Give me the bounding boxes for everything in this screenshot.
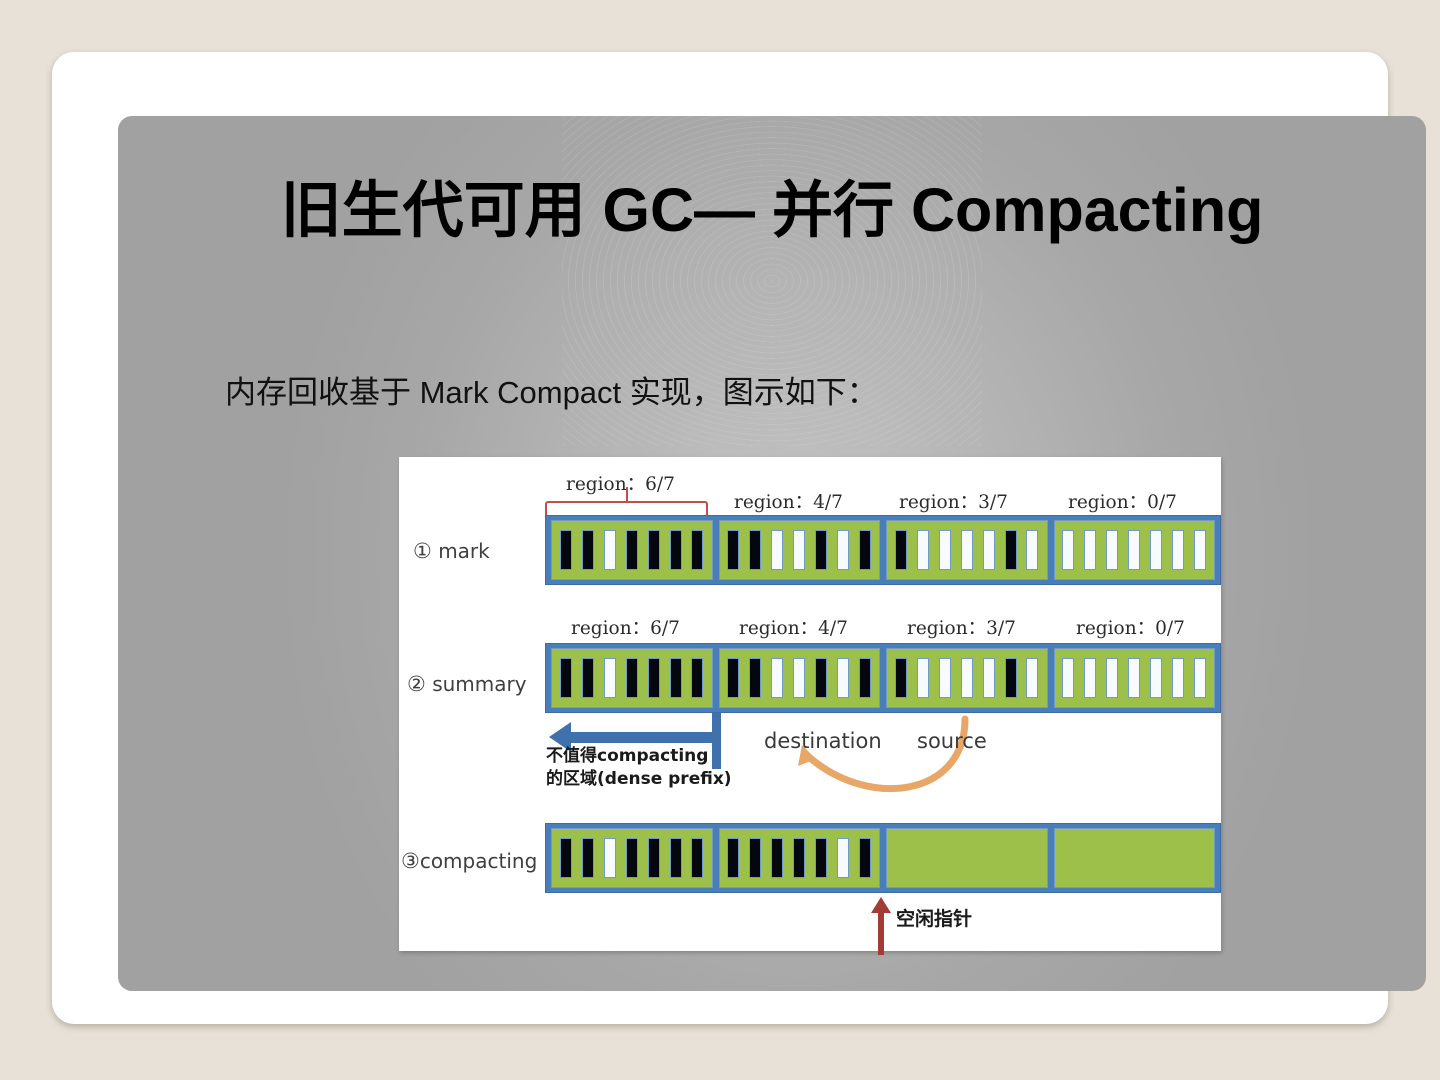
region-block-r3-b2 — [719, 828, 881, 888]
memory-cell — [626, 838, 638, 879]
memory-cell — [815, 838, 827, 879]
free-pointer-label: 空闲指针 — [896, 904, 972, 931]
free-pointer-arrow-head — [871, 897, 891, 913]
memory-cell — [691, 838, 703, 879]
slide-subtitle: 内存回收基于 Mark Compact 实现，图示如下： — [225, 367, 878, 412]
row-number-3: ③ — [401, 849, 420, 873]
row-label-compacting: ③compacting — [401, 849, 537, 873]
diagram-canvas: ① mark region：6/7 region：4/7 region：3/7 … — [399, 457, 1221, 951]
mark-compact-diagram: ① mark region：6/7 region：4/7 region：3/7 … — [399, 457, 1221, 951]
slide-frame: 旧生代可用 GC— 并行 Compacting 内存回收基于 Mark Comp… — [52, 52, 1388, 1024]
memory-cell — [727, 838, 739, 879]
memory-cell — [837, 838, 849, 879]
memory-cell — [859, 838, 871, 879]
destination-label: destination — [764, 729, 882, 753]
memory-cell — [749, 838, 761, 879]
memory-cell — [793, 838, 805, 879]
page-title: 旧生代可用 GC— 并行 Compacting — [118, 178, 1426, 244]
free-pointer-arrow-shaft — [878, 913, 884, 955]
memory-bar-compacting — [545, 823, 1221, 893]
region-block-r3-b4 — [1054, 828, 1216, 888]
source-label: source — [917, 729, 987, 753]
memory-cell — [560, 838, 572, 879]
memory-cell — [648, 838, 660, 879]
slide-content-panel: 旧生代可用 GC— 并行 Compacting 内存回收基于 Mark Comp… — [118, 116, 1426, 991]
memory-cell — [771, 838, 783, 879]
memory-cell — [670, 838, 682, 879]
region-block-r3-b3 — [886, 828, 1048, 888]
region-block-r3-b1 — [551, 828, 713, 888]
memory-cell — [582, 838, 594, 879]
row-name-3: compacting — [420, 849, 537, 873]
memory-cell — [604, 838, 616, 879]
